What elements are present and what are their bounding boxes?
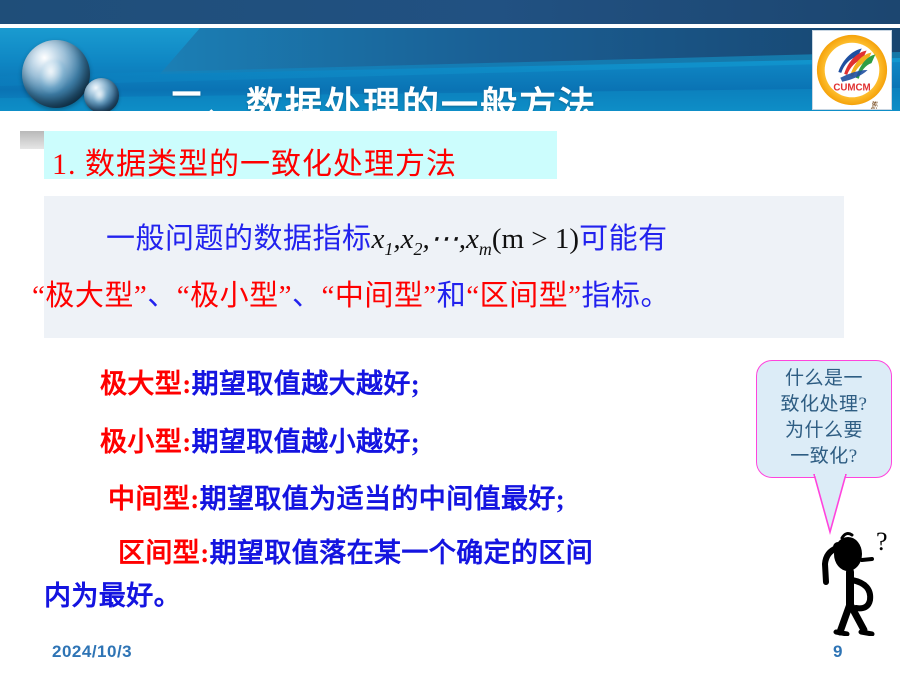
subtitle-gray-marker [20, 131, 44, 149]
bullet-item-min: 极小型:期望取值越小越好; [100, 420, 420, 459]
slide-title: 二、数据处理的一般方法 [168, 75, 597, 111]
bubble-line-2: 致化处理? [756, 392, 892, 418]
speech-bubble-tail [812, 474, 868, 536]
cumcm-logo-text: CUMCM [833, 82, 870, 93]
sep-1: 、 [147, 280, 177, 312]
cumcm-logo: CUMCM 中国大学生数学建模竞赛 [812, 30, 892, 110]
statement-line1-suffix: 可能有 [579, 223, 668, 255]
footer-date: 2024/10/3 [52, 642, 132, 662]
bullet-label-mid: 中间型: [108, 484, 200, 514]
subtitle-text: 1. 数据类型的一致化处理方法 [52, 139, 457, 183]
bullet-item-max: 极大型:期望取值越大越好; [100, 362, 420, 401]
footer-page-number: 9 [833, 642, 842, 662]
bullet-text-max: 期望取值越大越好; [192, 369, 421, 399]
bubble-line-4: 一致化? [756, 444, 892, 470]
speech-bubble-text: 什么是一 致化处理? 为什么要 一致化? [756, 366, 892, 470]
bullet-item-interval: 区间型:期望取值落在某一个确定的区间 [118, 531, 593, 570]
bullet-label-min: 极小型: [100, 427, 192, 457]
statement-line-2: “极大型”、“极小型”、“中间型”和“区间型”指标。 [32, 272, 670, 314]
bullet-text-mid: 期望取值为适当的中间值最好; [200, 484, 566, 514]
slide-root: 二、数据处理的一般方法 CUMCM 中国大学生数学建模竞赛 [0, 0, 900, 675]
bullet-text-interval: 期望取值落在某一个确定的区间 [210, 538, 594, 568]
bubble-line-3: 为什么要 [756, 418, 892, 444]
statement-line-1: 一般问题的数据指标x1,x2,⋯,xm(m > 1)可能有 [106, 215, 668, 260]
bullet-item-mid: 中间型:期望取值为适当的中间值最好; [108, 477, 565, 516]
statement-line2-suffix: 指标。 [582, 280, 671, 312]
type-term-min: “极小型” [177, 280, 292, 312]
header-banner: 二、数据处理的一般方法 [0, 28, 900, 111]
bullet-text-min: 期望取值越小越好; [192, 427, 421, 457]
type-term-mid: “中间型” [322, 280, 437, 312]
statement-math-expression: x1,x2,⋯,xm(m > 1) [372, 223, 580, 255]
statement-line1-prefix: 一般问题的数据指标 [106, 223, 372, 255]
bullet-label-max: 极大型: [100, 369, 192, 399]
sep-2: 、 [292, 280, 322, 312]
type-term-interval: “区间型” [466, 280, 581, 312]
type-term-max: “极大型” [32, 280, 147, 312]
top-decorative-strip [0, 0, 900, 24]
decorative-sphere-large [22, 40, 90, 108]
bullet-label-interval: 区间型: [118, 538, 210, 568]
bubble-line-1: 什么是一 [756, 366, 892, 392]
sep-3: 和 [437, 280, 467, 312]
decorative-sphere-small [84, 78, 119, 111]
stick-figure-icon: ? [806, 524, 898, 636]
stick-figure-question-mark: ? [876, 527, 888, 556]
bullet-item-interval-cont: 内为最好。 [44, 574, 181, 613]
bullet-text-interval-cont: 内为最好。 [44, 581, 181, 611]
cumcm-logo-icon: CUMCM 中国大学生数学建模竞赛 [813, 31, 891, 109]
